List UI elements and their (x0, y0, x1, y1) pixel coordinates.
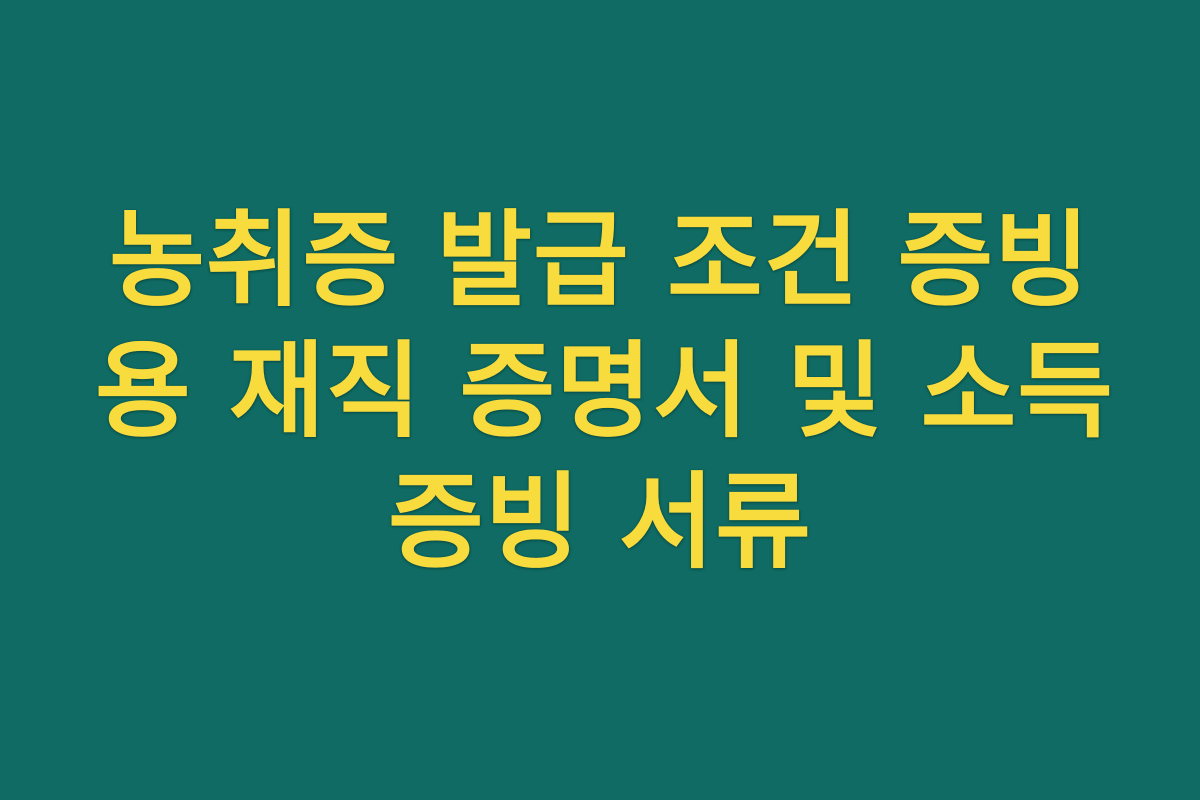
page-title: 농취증 발급 조건 증빙 용 재직 증명서 및 소득 증빙 서류 (95, 195, 1105, 588)
title-line-3: 증빙 서류 (95, 457, 1105, 588)
title-line-1: 농취증 발급 조건 증빙 (95, 195, 1105, 326)
title-line-2: 용 재직 증명서 및 소득 (95, 326, 1105, 457)
banner-canvas: 농취증 발급 조건 증빙 용 재직 증명서 및 소득 증빙 서류 (0, 0, 1200, 800)
